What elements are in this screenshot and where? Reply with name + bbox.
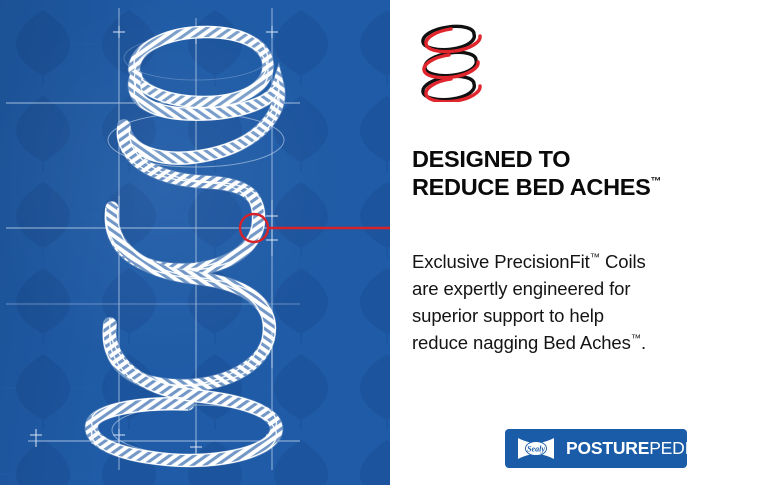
posturepedic-wordmark: POSTUREPEDIC™ bbox=[566, 440, 709, 458]
headline-trademark-symbol: ™ bbox=[651, 176, 662, 188]
wordmark-pedic: PEDIC bbox=[649, 438, 701, 458]
body-line-4-text-a: reduce nagging Bed Aches bbox=[412, 332, 631, 353]
sealy-brand-text: Sealy bbox=[527, 445, 545, 454]
page-title: DESIGNED TO REDUCE BED ACHES™ bbox=[412, 145, 742, 201]
body-line-3: superior support to help bbox=[412, 302, 712, 329]
coil-spring-blueprint-drawing bbox=[0, 0, 390, 485]
headline-line-1: DESIGNED TO bbox=[412, 145, 742, 173]
coil-spring-body bbox=[92, 26, 279, 466]
body-line-4: reduce nagging Bed Aches™. bbox=[412, 329, 712, 356]
coil-turn-1 bbox=[134, 26, 268, 107]
blueprint-illustration-panel bbox=[0, 0, 390, 485]
sealy-oval-logo-icon: Sealy bbox=[515, 436, 557, 461]
body-copy: Exclusive PrecisionFit™ Coils are expert… bbox=[412, 248, 712, 356]
bed-aches-trademark-symbol: ™ bbox=[631, 334, 641, 345]
sealy-posturepedic-logo-badge: Sealy POSTUREPEDIC™ bbox=[505, 429, 687, 468]
body-line-1-text-b: Coils bbox=[600, 251, 646, 272]
posturepedic-trademark-symbol: ™ bbox=[702, 440, 709, 449]
headline-line-2: REDUCE BED ACHES™ bbox=[412, 173, 742, 201]
headline-line-2-text: REDUCE BED ACHES bbox=[412, 174, 651, 200]
precisionfit-trademark-symbol: ™ bbox=[590, 253, 600, 264]
body-line-2: are expertly engineered for bbox=[412, 275, 712, 302]
wordmark-posture: POSTURE bbox=[566, 438, 649, 458]
content-panel: DESIGNED TO REDUCE BED ACHES™ Exclusive … bbox=[390, 0, 758, 485]
body-line-4-text-b: . bbox=[641, 332, 646, 353]
body-line-1-text-a: Exclusive PrecisionFit bbox=[412, 251, 590, 272]
advertisement-canvas: DESIGNED TO REDUCE BED ACHES™ Exclusive … bbox=[0, 0, 758, 485]
body-line-1: Exclusive PrecisionFit™ Coils bbox=[412, 248, 712, 275]
coil-spring-icon bbox=[410, 20, 496, 102]
